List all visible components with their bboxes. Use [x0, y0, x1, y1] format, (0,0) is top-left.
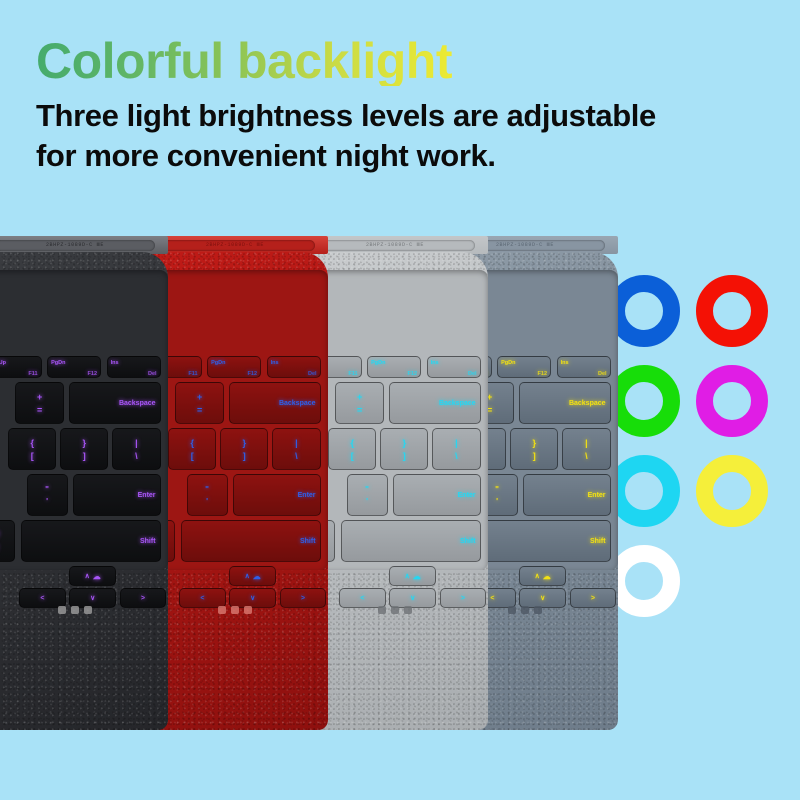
key-legend-secondary: = [357, 405, 362, 415]
key-legend-primary: PgDn [501, 360, 515, 366]
alcantara-cover: PgUpF11PgDnF12InsDel+=Backspace{[}]|\"'E… [302, 252, 488, 730]
key-legend-primary: Shift [140, 538, 156, 545]
key-legend-primary: ∧ [405, 572, 410, 580]
key-legend-secondary: F12 [538, 371, 547, 377]
key-legend-secondary: [ [191, 451, 194, 461]
key-legend-primary: Backspace [569, 400, 606, 407]
key-legend-primary: > [591, 595, 595, 602]
key-arrow-right[interactable]: > [440, 588, 487, 608]
key-grid[interactable]: PgUpF11PgDnF12InsDel+=Backspace{[}]|\"'E… [142, 356, 328, 608]
keyboard-light-grey[interactable]: 2BHPZ-1089D-C ⅢEPgUpF11PgDnF12InsDel+=Ba… [302, 232, 488, 730]
key-legend-secondary: \ [135, 451, 138, 461]
bluetooth-icon [534, 606, 542, 614]
key-legend-secondary: F12 [88, 371, 97, 377]
key-backspace[interactable]: Backspace [389, 382, 480, 424]
key-arrow-down[interactable]: ∨ [519, 588, 566, 608]
key-legend-secondary: \ [585, 451, 588, 461]
alcantara-cover: PgUpF11PgDnF12InsDel+=Backspace{[}]|\"'E… [142, 252, 328, 730]
battery-icon [231, 606, 239, 614]
key-pgdn-f12[interactable]: PgDnF12 [207, 356, 261, 378]
key-slash[interactable]: ?/ [0, 520, 15, 562]
alcantara-cover: PgUpF11PgDnF12InsDel+=Backspace{[}]|\"'E… [0, 252, 168, 730]
key-legend-primary: Enter [138, 492, 156, 499]
key-backspace[interactable]: Backspace [519, 382, 610, 424]
key-grid[interactable]: PgUpF11PgDnF12InsDel+=Backspace{[}]|\"'E… [0, 356, 168, 608]
battery-icon [391, 606, 399, 614]
key-legend-secondary: = [197, 405, 202, 415]
swatch-magenta[interactable] [696, 365, 768, 437]
key-bracket-2[interactable]: |\ [272, 428, 320, 470]
key-pgdn-f12[interactable]: PgDnF12 [47, 356, 101, 378]
key-legend-primary: Ins [271, 360, 279, 366]
key-grid[interactable]: PgUpF11PgDnF12InsDel+=Backspace{[}]|\"'E… [302, 356, 488, 608]
key-legend-primary: < [40, 595, 44, 602]
keyboard-black[interactable]: 2BHPZ-1089D-C ⅢEPgUpF11PgDnF12InsDel+=Ba… [0, 232, 168, 730]
key-bracket-0[interactable]: {[ [168, 428, 216, 470]
key-legend-primary: > [141, 595, 145, 602]
key-legend-secondary: F11 [28, 371, 37, 377]
key-legend-secondary: ' [496, 497, 498, 506]
key-plus-equals[interactable]: += [15, 382, 63, 424]
key-arrow-down[interactable]: ∨ [69, 588, 116, 608]
key-legend-primary: } [83, 438, 87, 448]
key-legend-primary: | [585, 438, 588, 448]
key-pgdn-f12[interactable]: PgDnF12 [367, 356, 421, 378]
caps-lock-icon [58, 606, 66, 614]
keyboard-red[interactable]: 2BHPZ-1089D-C ⅢEPgUpF11PgDnF12InsDel+=Ba… [142, 232, 328, 730]
key-quote[interactable]: "' [347, 474, 388, 516]
key-legend-primary: " [205, 485, 209, 494]
status-indicators [508, 606, 542, 614]
key-legend-secondary: F12 [408, 371, 417, 377]
key-pgup-f11[interactable]: PgUpF11 [0, 356, 42, 378]
key-legend-secondary: ' [366, 497, 368, 506]
key-arrow-left[interactable]: < [339, 588, 386, 608]
key-legend-secondary: F11 [348, 371, 357, 377]
key-legend-primary: ∨ [90, 594, 95, 602]
key-bracket-0[interactable]: {[ [328, 428, 376, 470]
key-legend-primary: Backspace [119, 400, 156, 407]
key-legend-secondary: F11 [188, 371, 197, 377]
key-bracket-1[interactable]: }] [60, 428, 108, 470]
key-plus-equals[interactable]: += [335, 382, 383, 424]
key-legend-primary: Ins [111, 360, 119, 366]
key-backspace[interactable]: Backspace [69, 382, 160, 424]
key-ins-del[interactable]: InsDel [267, 356, 321, 378]
swatch-blue[interactable] [608, 275, 680, 347]
key-arrow-up[interactable]: ∧☁ [69, 566, 116, 586]
key-legend-primary: + [37, 392, 42, 402]
key-legend-primary: " [45, 485, 49, 494]
key-arrow-right[interactable]: > [570, 588, 617, 608]
key-legend-secondary: Del [148, 371, 157, 377]
key-arrow-right[interactable]: > [280, 588, 327, 608]
key-legend-primary: Shift [460, 538, 476, 545]
key-quote[interactable]: "' [187, 474, 228, 516]
key-bracket-2[interactable]: |\ [112, 428, 160, 470]
caps-lock-icon [508, 606, 516, 614]
key-legend-primary: PgDn [371, 360, 385, 366]
cloud-icon: ☁ [93, 572, 101, 581]
key-ins-del[interactable]: InsDel [107, 356, 161, 378]
key-bracket-1[interactable]: }] [380, 428, 428, 470]
status-indicators [378, 606, 412, 614]
key-legend-secondary: \ [295, 451, 298, 461]
key-legend-primary: PgUp [0, 360, 6, 366]
key-backspace[interactable]: Backspace [229, 382, 320, 424]
key-bracket-1[interactable]: }] [510, 428, 558, 470]
key-bracket-0[interactable]: {[ [8, 428, 56, 470]
key-legend-secondary: ] [533, 451, 536, 461]
key-arrow-up[interactable]: ∧☁ [229, 566, 276, 586]
key-legend-secondary: ] [83, 451, 86, 461]
key-legend-primary: ∧ [85, 572, 90, 580]
status-indicators [58, 606, 92, 614]
key-pgdn-f12[interactable]: PgDnF12 [497, 356, 551, 378]
key-shift[interactable]: Shift [181, 520, 321, 562]
key-legend-primary: } [243, 438, 247, 448]
bluetooth-icon [404, 606, 412, 614]
key-arrow-up[interactable]: ∧☁ [389, 566, 436, 586]
key-legend-primary: Enter [298, 492, 316, 499]
key-legend-primary: < [490, 595, 494, 602]
key-legend-secondary: ' [206, 497, 208, 506]
status-indicators [218, 606, 252, 614]
key-legend-primary: > [461, 595, 465, 602]
key-legend-secondary: ] [243, 451, 246, 461]
model-label: 2BHPZ-1089D-C ⅢE [315, 240, 475, 251]
key-legend-primary: Enter [588, 492, 606, 499]
key-arrow-down[interactable]: ∨ [229, 588, 276, 608]
page-title: Colorful backlight [36, 36, 452, 86]
key-legend-primary: Shift [300, 538, 316, 545]
key-legend-primary: Backspace [279, 400, 316, 407]
key-legend-primary: Shift [590, 538, 606, 545]
key-ins-del[interactable]: InsDel [427, 356, 481, 378]
swatch-red[interactable] [696, 275, 768, 347]
key-bracket-2[interactable]: |\ [562, 428, 610, 470]
key-legend-primary: } [533, 438, 537, 448]
key-arrow-down[interactable]: ∨ [389, 588, 436, 608]
key-legend-primary: ∧ [535, 572, 540, 580]
key-arrow-left[interactable]: < [179, 588, 226, 608]
key-legend-primary: } [403, 438, 407, 448]
swatch-yellow[interactable] [696, 455, 768, 527]
key-arrow-left[interactable]: < [19, 588, 66, 608]
key-legend-primary: { [30, 438, 34, 448]
key-legend-secondary: F12 [248, 371, 257, 377]
key-legend-primary: < [360, 595, 364, 602]
caps-lock-icon [378, 606, 386, 614]
key-legend-primary: Backspace [439, 400, 476, 407]
key-ins-del[interactable]: InsDel [557, 356, 611, 378]
key-legend-secondary: [ [351, 451, 354, 461]
key-legend-primary: ∨ [250, 594, 255, 602]
key-legend-primary: > [301, 595, 305, 602]
key-legend-primary: | [295, 438, 298, 448]
key-arrow-right[interactable]: > [120, 588, 167, 608]
key-enter[interactable]: Enter [523, 474, 610, 516]
key-legend-primary: ∧ [245, 572, 250, 580]
key-legend-secondary: ] [403, 451, 406, 461]
key-quote[interactable]: "' [27, 474, 68, 516]
cloud-icon: ☁ [413, 572, 421, 581]
key-legend-primary: Enter [458, 492, 476, 499]
swatch-white[interactable] [608, 545, 680, 617]
backlight-color-swatches [600, 266, 776, 626]
key-legend-primary: { [350, 438, 354, 448]
key-legend-primary: { [190, 438, 194, 448]
key-legend-primary: + [197, 392, 202, 402]
swatch-cyan[interactable] [608, 455, 680, 527]
key-shift[interactable]: Shift [341, 520, 481, 562]
model-label: 2BHPZ-1089D-C ⅢE [0, 240, 155, 251]
key-legend-primary: Ins [431, 360, 439, 366]
battery-icon [521, 606, 529, 614]
key-bracket-2[interactable]: |\ [432, 428, 480, 470]
key-enter[interactable]: Enter [73, 474, 160, 516]
key-legend-secondary: = [37, 405, 42, 415]
key-legend-primary: < [200, 595, 204, 602]
key-shift[interactable]: Shift [471, 520, 611, 562]
key-legend-secondary: \ [455, 451, 458, 461]
key-enter[interactable]: Enter [233, 474, 320, 516]
key-legend-secondary: [ [31, 451, 34, 461]
battery-icon [71, 606, 79, 614]
key-shift[interactable]: Shift [21, 520, 161, 562]
key-legend-secondary: Del [308, 371, 317, 377]
page-subtitle: Three light brightness levels are adjust… [36, 96, 656, 177]
key-legend-primary: ∨ [540, 594, 545, 602]
key-legend-primary: " [495, 485, 499, 494]
key-legend-primary: PgDn [211, 360, 225, 366]
key-legend-secondary: Del [468, 371, 477, 377]
key-legend-primary: PgDn [51, 360, 65, 366]
bluetooth-icon [244, 606, 252, 614]
key-legend-primary: + [357, 392, 362, 402]
key-enter[interactable]: Enter [393, 474, 480, 516]
key-legend-secondary: Del [598, 371, 607, 377]
key-legend-primary: | [455, 438, 458, 448]
key-legend-primary: | [135, 438, 138, 448]
key-legend-secondary: ' [46, 497, 48, 506]
key-plus-equals[interactable]: += [175, 382, 223, 424]
key-legend-primary: " [365, 485, 369, 494]
model-label: 2BHPZ-1089D-C ⅢE [155, 240, 315, 251]
key-bracket-1[interactable]: }] [220, 428, 268, 470]
key-legend-primary: Ins [561, 360, 569, 366]
caps-lock-icon [218, 606, 226, 614]
key-arrow-up[interactable]: ∧☁ [519, 566, 566, 586]
cloud-icon: ☁ [543, 572, 551, 581]
swatch-green[interactable] [608, 365, 680, 437]
cloud-icon: ☁ [253, 572, 261, 581]
key-legend-primary: ∨ [410, 594, 415, 602]
bluetooth-icon [84, 606, 92, 614]
